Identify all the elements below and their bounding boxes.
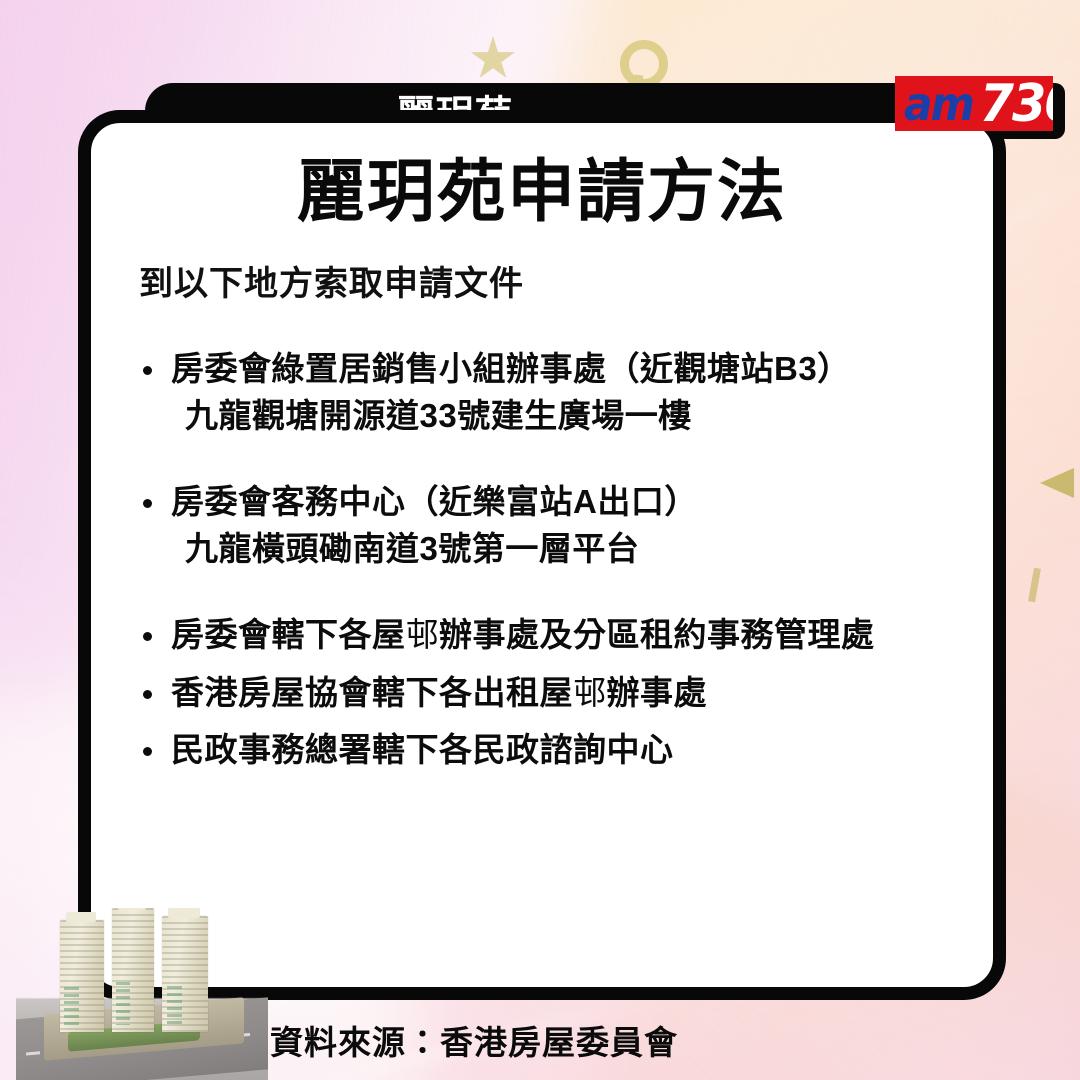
card-subtitle: 到以下地方索取申請文件: [139, 256, 993, 305]
poster-canvas: 麗玥苑 am 730 麗玥苑申請方法 到以下地方索取申請文件 房委會綠置居銷售小…: [0, 0, 1080, 1080]
photo-tower: [112, 908, 154, 1032]
list-item-main-part-a: 房委會轄下各屋: [171, 616, 406, 653]
source-attribution: 資料來源：香港房屋委員會: [270, 1016, 678, 1064]
list-item-main: 民政事務總署轄下各民政諮詢中心: [171, 731, 674, 768]
list-item-main-alt-glyph: 邨: [573, 673, 607, 712]
photo-tower: [162, 916, 208, 1032]
logo-prefix: am: [904, 81, 973, 127]
am730-logo: am 730: [895, 76, 1053, 131]
list-item: 房委會綠置居銷售小組辦事處（近觀塘站B3） 九龍觀塘開源道33號建生廣場一樓: [135, 347, 993, 438]
arrow-icon: [1040, 468, 1074, 498]
photo-tower-cap: [168, 908, 200, 918]
building-photo: [16, 908, 268, 1080]
application-locations-list: 房委會綠置居銷售小組辦事處（近觀塘站B3） 九龍觀塘開源道33號建生廣場一樓 房…: [91, 347, 993, 772]
photo-tower-cap: [118, 908, 146, 910]
list-item: 香港房屋協會轄下各出租屋邨辦事處: [135, 671, 993, 715]
photo-tower: [60, 920, 104, 1032]
list-item: 房委會客務中心（近樂富站A出口） 九龍橫頭磡南道3號第一層平台: [135, 480, 993, 571]
list-item-main: 房委會客務中心（近樂富站A出口）: [171, 483, 698, 520]
list-item-sub: 九龍橫頭磡南道3號第一層平台: [171, 527, 993, 571]
list-item-main-part-b: 辦事處及分區租約事務管理處: [439, 616, 875, 653]
logo-suffix: 730: [980, 78, 1053, 130]
list-item-main-part-a: 香港房屋協會轄下各出租屋: [171, 674, 573, 711]
list-item-main: 房委會綠置居銷售小組辦事處（近觀塘站B3）: [171, 350, 851, 387]
page-title: 麗玥苑申請方法: [91, 155, 993, 230]
list-item: 房委會轄下各屋邨辦事處及分區租約事務管理處: [135, 613, 993, 657]
list-item-main-alt-glyph: 邨: [406, 615, 440, 654]
photo-tower-cap: [66, 912, 96, 922]
list-item: 民政事務總署轄下各民政諮詢中心: [135, 728, 993, 772]
info-card: 麗玥苑申請方法 到以下地方索取申請文件 房委會綠置居銷售小組辦事處（近觀塘站B3…: [78, 110, 1006, 1000]
list-item-sub: 九龍觀塘開源道33號建生廣場一樓: [171, 394, 993, 438]
ring-icon: [620, 40, 668, 88]
list-item-main-part-b: 辦事處: [607, 674, 708, 711]
